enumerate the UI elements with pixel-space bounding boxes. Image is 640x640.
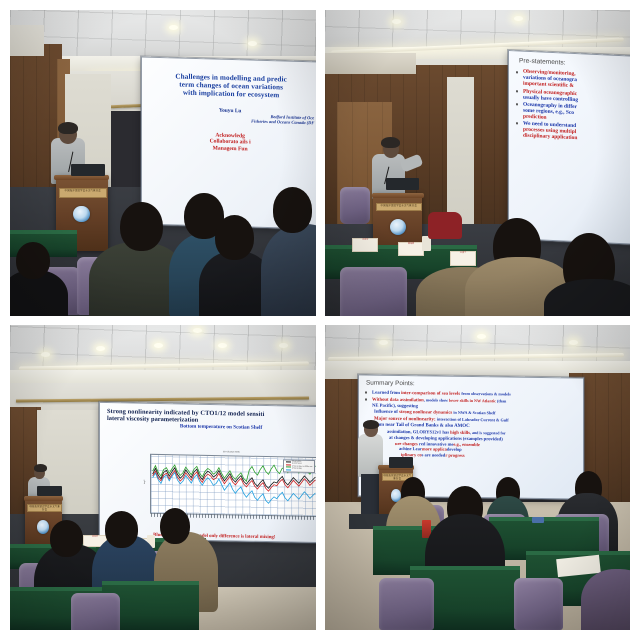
audience-head — [215, 215, 255, 261]
downlight — [248, 41, 257, 46]
conference-room-scene: Pre-statements: Observing/monitoring, va… — [325, 10, 631, 316]
photo-collage: Challenges in modelling and predic term … — [0, 0, 640, 640]
audience-head — [50, 520, 84, 557]
bullet-text: prediction — [523, 113, 547, 120]
audience-head — [160, 508, 191, 545]
laptop — [389, 457, 413, 468]
bullet-text: interaction of Labrador Current & Gulf — [437, 417, 509, 423]
bullet-text: s are needed — [422, 452, 446, 457]
panel-bottom-left[interactable]: Strong nonlinearity indicated by CTO1/12… — [10, 325, 316, 631]
chart-legend: Observations GLORYS12v1 CTO1/12-deg, no … — [283, 459, 315, 473]
bullet-text: , models show — [424, 398, 449, 403]
podium-nameplate: 中国海洋湖沼学会水文气象分会 — [27, 504, 62, 512]
chair — [514, 578, 563, 630]
audience-head — [273, 187, 313, 233]
bullet-text: in NWA & Scotian Shelf — [454, 411, 496, 417]
speaker-hair — [34, 464, 47, 472]
panel-top-left[interactable]: Challenges in modelling and predic term … — [10, 10, 316, 316]
bullet-text: (than — [497, 399, 506, 404]
downlight — [41, 352, 50, 357]
downlight — [477, 334, 486, 339]
podium-top — [24, 496, 63, 501]
podium-top — [372, 193, 424, 198]
downlight — [193, 328, 202, 333]
laptop — [71, 164, 105, 176]
bullet-text: Without data assimilation — [372, 398, 424, 404]
podium-logo — [390, 219, 406, 235]
bullet-text: lower skills in NW Atlantic — [449, 398, 497, 404]
name-card: 刘志宇 — [352, 238, 378, 252]
speaker-hair — [58, 122, 78, 134]
conference-room-scene: Summary Points: Learned from inter-compa… — [325, 325, 631, 631]
chart-ylabel: degC — [144, 479, 146, 483]
conference-room-scene: Challenges in modelling and predic term … — [10, 10, 316, 316]
podium-nameplate: 中国海洋湖沼学会水文气象分会 — [59, 188, 107, 198]
podium-nameplate: 中国海洋湖沼学会水文气象分会 — [376, 203, 422, 212]
ceiling-return — [10, 25, 44, 56]
chair — [379, 578, 434, 630]
projection-screen[interactable]: Pre-statements: Observing/monitoring, va… — [508, 50, 630, 246]
panel-bottom-right[interactable]: Summary Points: Learned from inter-compa… — [325, 325, 631, 631]
name-card: 汪 嘉宁 — [450, 251, 476, 265]
conference-room-scene: Strong nonlinearity indicated by CTO1/12… — [10, 325, 316, 631]
downlight — [218, 343, 227, 348]
bullet-text: from observations & models — [461, 391, 510, 397]
bullet-text: r progress — [445, 453, 464, 458]
laptop — [386, 178, 420, 190]
downlight — [392, 19, 401, 24]
chair — [340, 187, 371, 224]
ceiling-return — [325, 53, 417, 74]
panel-top-right[interactable]: Pre-statements: Observing/monitoring, va… — [325, 10, 631, 316]
bullet-text: high skills — [450, 430, 470, 435]
name-card: 曹海锦 — [398, 242, 424, 256]
podium-logo — [73, 206, 90, 223]
downlight — [154, 343, 163, 348]
downlight — [279, 343, 288, 348]
legend-label: CTO1/12-deg — [292, 468, 302, 471]
chair — [340, 267, 407, 316]
audience-head — [105, 511, 139, 548]
paper-sheet — [556, 554, 600, 577]
red-bag — [428, 212, 462, 239]
chair — [71, 593, 120, 630]
slide-heading: Pre-statements: — [519, 57, 630, 70]
speaker-hair — [381, 137, 400, 148]
podium-logo — [37, 520, 49, 534]
phone — [532, 517, 544, 523]
downlight — [569, 340, 578, 345]
downlight — [96, 346, 105, 351]
slide-prestatements: Pre-statements: Observing/monitoring, va… — [508, 50, 630, 246]
slide-heading: Summary Points: — [366, 380, 580, 390]
audience-head — [16, 242, 50, 279]
audience-head — [120, 202, 163, 251]
wood-wall-left — [325, 379, 362, 520]
speaker-hair — [363, 420, 378, 429]
laptop — [37, 486, 61, 495]
